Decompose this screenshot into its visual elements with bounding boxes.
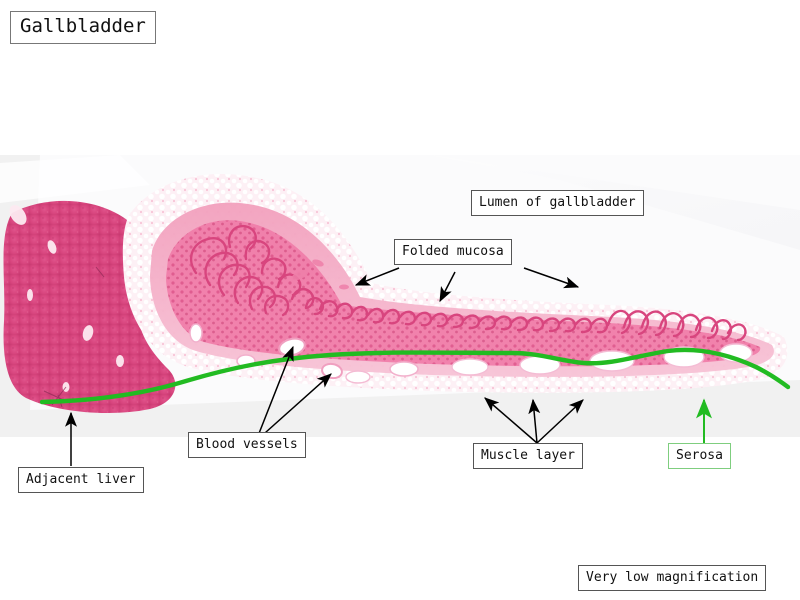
label-lumen-of-gallbladder: Lumen of gallbladder [471, 190, 644, 216]
arrow-blood-vessel-2 [256, 374, 331, 441]
arrow-muscle-layer-2 [533, 400, 537, 443]
arrow-muscle-layer-1 [485, 398, 537, 443]
label-magnification: Very low magnification [578, 565, 766, 591]
label-muscle-layer: Muscle layer [473, 443, 583, 469]
annotation-arrows [0, 0, 800, 600]
arrow-folded-mucosa-center [440, 272, 455, 301]
arrow-folded-mucosa-left [356, 268, 399, 285]
figure-title: Gallbladder [10, 11, 156, 44]
label-blood-vessels: Blood vessels [188, 432, 306, 458]
label-adjacent-liver: Adjacent liver [18, 467, 144, 493]
figure-canvas: Gallbladder Lumen of gallbladder Folded … [0, 0, 800, 600]
arrow-muscle-layer-3 [537, 400, 583, 443]
label-folded-mucosa: Folded mucosa [394, 239, 512, 265]
arrow-blood-vessel-1 [256, 347, 293, 441]
arrow-folded-mucosa-right [524, 268, 578, 287]
label-serosa: Serosa [668, 443, 731, 469]
